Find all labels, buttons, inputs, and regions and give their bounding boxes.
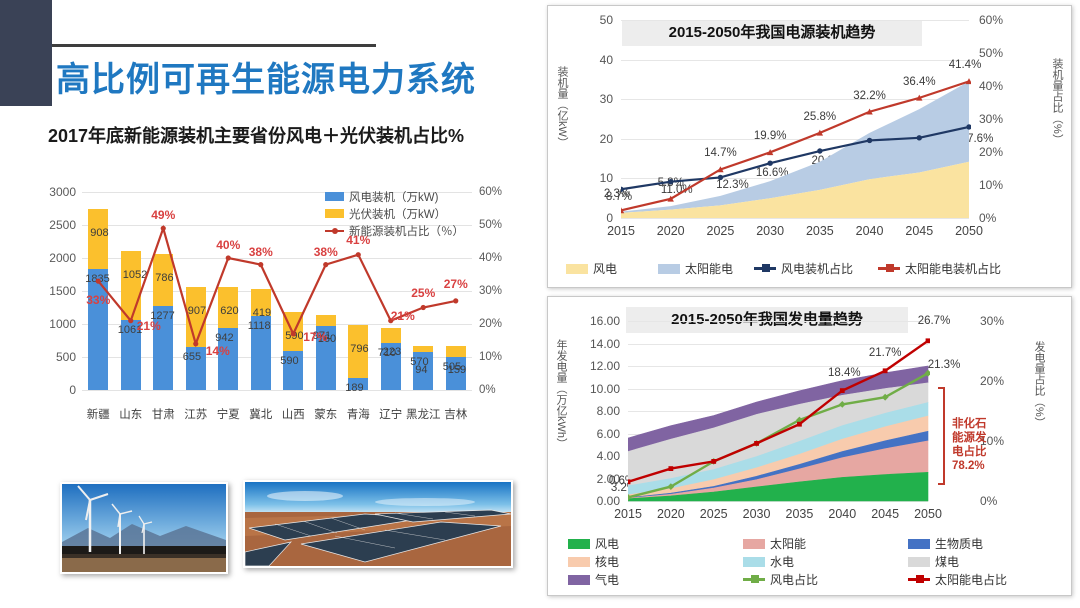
bar-column [186, 287, 206, 390]
legend-item-0: 风电 [568, 535, 619, 552]
legend-marker-4 [743, 557, 765, 567]
x-tick-2040: 2040 [856, 224, 884, 238]
y-tick-40: 40 [600, 53, 613, 67]
x-tick-2040: 2040 [828, 507, 856, 521]
ratio-label-2: 49% [151, 208, 175, 222]
page-title: 高比例可再生能源电力系统 [56, 52, 476, 101]
legend-marker-0 [566, 264, 588, 274]
wind-farm-photo [60, 482, 228, 574]
x-tick-蒙东: 蒙东 [314, 406, 337, 422]
solar-bar-segment [381, 328, 401, 343]
legend-marker-6 [568, 575, 590, 585]
ratio-label-0: 33% [86, 293, 110, 307]
x-tick-江苏: 江苏 [184, 406, 207, 422]
x-tick-2020: 2020 [657, 224, 685, 238]
bar-column [348, 325, 368, 390]
legend-item-ratio: 新能源装机占比（％） [325, 222, 464, 239]
solar-value-label: 907 [188, 305, 206, 317]
y-tick-4.00: 4.00 [597, 449, 620, 463]
title-accent-block [0, 0, 52, 106]
ratio-label-6: 17% [303, 330, 327, 344]
solar-value-label: 620 [220, 305, 238, 317]
ratio-label-4: 40% [216, 238, 240, 252]
x-tick-辽宁: 辽宁 [379, 406, 402, 422]
x-tick-宁夏: 宁夏 [217, 406, 240, 422]
x-tick-山西: 山西 [282, 406, 305, 422]
y2-tick-30%: 30% [479, 285, 502, 297]
y-tick-10: 10 [600, 171, 613, 185]
legend-item-6: 气电 [568, 571, 619, 588]
legend-item-2: 风电装机占比 [754, 260, 853, 277]
legend-item-0: 风电 [566, 260, 617, 277]
x-tick-2045: 2045 [871, 507, 899, 521]
wind-value-label: 1835 [85, 273, 109, 285]
legend-label-2: 生物质电 [935, 535, 983, 552]
y-tick-6.00: 6.00 [597, 427, 620, 441]
x-tick-2050: 2050 [955, 224, 983, 238]
legend-label-0: 风电 [595, 535, 619, 552]
y-tick-2000: 2000 [49, 251, 76, 265]
y2-tick-20%: 20% [979, 145, 1003, 159]
solar-value-label: 786 [155, 272, 173, 284]
x-tick-2015: 2015 [607, 224, 635, 238]
legend-marker-5 [908, 557, 930, 567]
ratio-label-10: 25% [411, 286, 435, 300]
y2-tick-50%: 50% [479, 219, 502, 231]
annotation-line-3: 78.2% [952, 459, 987, 473]
province-bar-chart: 0500100015002000250030000%10%20%30%40%50… [30, 180, 530, 435]
annotation-line-2: 电占比 [952, 445, 987, 459]
y2-tick-40%: 40% [979, 79, 1003, 93]
solar-bar-segment [446, 346, 466, 356]
non-fossil-annotation: 非化石能源发电占比78.2% [952, 417, 987, 473]
capacity-y2-axis-title: 装机量占比（%） [1049, 58, 1065, 145]
solar-value-label: 1052 [123, 269, 147, 281]
y-tick-10.00: 10.00 [590, 382, 620, 396]
x-tick-2035: 2035 [786, 507, 814, 521]
ratio-label-11: 27% [444, 277, 468, 291]
y-tick-14.00: 14.00 [590, 337, 620, 351]
ratio-label-3: 14% [206, 344, 230, 358]
bar-column [283, 312, 303, 390]
wind-bar-segment [88, 269, 108, 390]
label-风电占比-7: 21.3% [928, 359, 961, 371]
x-tick-冀北: 冀北 [249, 406, 272, 422]
x-tick-2045: 2045 [905, 224, 933, 238]
legend-label-ratio: 新能源装机占比（％） [349, 223, 464, 239]
legend-item-solar: 光伏装机（万kW） [325, 205, 464, 222]
legend-label-3: 太阳能电装机占比 [905, 260, 1001, 277]
y-tick-0: 0 [606, 211, 613, 225]
solar-farm-photo [243, 480, 513, 568]
y2-tick-20%: 20% [479, 318, 502, 330]
annotation-line-1: 能源发 [952, 431, 987, 445]
legend-marker-1 [658, 264, 680, 274]
y-tick-500: 500 [56, 350, 76, 364]
y2-tick-30%: 30% [980, 314, 1004, 328]
y2-tick-0%: 0% [979, 211, 996, 225]
legend-item-3: 核电 [568, 553, 619, 570]
bar-chart-legend: 风电装机（万kW) 光伏装机（万kW） 新能源装机占比（％） [325, 188, 464, 239]
bar-column [381, 328, 401, 390]
x-tick-2025: 2025 [700, 507, 728, 521]
generation-y2-axis-title: 发电量占比（%） [1031, 341, 1047, 428]
legend-marker-3 [568, 557, 590, 567]
legend-marker-2 [908, 539, 930, 549]
y2-tick-0%: 0% [980, 494, 997, 508]
legend-marker-3 [878, 267, 900, 270]
wind-farm-illustration [62, 484, 226, 572]
bar-column [251, 289, 271, 390]
solar-swatch-icon [325, 209, 344, 218]
solar-value-label: 908 [90, 227, 108, 239]
page-subtitle: 2017年底新能源装机主要省份风电＋光伏装机占比% [48, 122, 464, 148]
legend-item-8: 太阳能电占比 [908, 571, 1007, 588]
legend-item-1: 太阳能 [743, 535, 806, 552]
legend-label-wind: 风电装机（万kW) [349, 189, 438, 205]
legend-item-4: 水电 [743, 553, 794, 570]
capacity-plot-area: 010203040500%10%20%30%40%50%60%201520202… [621, 20, 969, 218]
annotation-bracket-icon [938, 387, 945, 485]
x-tick-2025: 2025 [707, 224, 735, 238]
legend-marker-8 [908, 578, 930, 581]
generation-y-axis-title: 年发电量（万亿kWh） [553, 339, 569, 449]
legend-item-1: 太阳能电 [658, 260, 733, 277]
legend-label-8: 太阳能电占比 [935, 571, 1007, 588]
x-tick-青海: 青海 [347, 406, 370, 422]
x-tick-吉林: 吉林 [444, 406, 467, 422]
x-tick-甘肃: 甘肃 [152, 406, 175, 422]
y-tick-12.00: 12.00 [590, 359, 620, 373]
y2-tick-60%: 60% [479, 186, 502, 198]
y2-tick-50%: 50% [979, 46, 1003, 60]
solar-bar-segment [121, 251, 141, 320]
ratio-label-9: 21% [391, 309, 415, 323]
generation-trend-panel: 2015-2050年我国发电量趋势 年发电量（万亿kWh） 发电量占比（%） 0… [547, 296, 1072, 596]
legend-item-3: 太阳能电装机占比 [878, 260, 1001, 277]
wind-value-label: 1118 [248, 320, 271, 332]
x-tick-2020: 2020 [657, 507, 685, 521]
solar-bar-segment [316, 315, 336, 326]
solar-value-label: 796 [350, 343, 368, 355]
x-tick-山东: 山东 [119, 406, 142, 422]
ratio-label-5: 38% [249, 245, 273, 259]
legend-label-1: 太阳能电 [685, 260, 733, 277]
y2-tick-10%: 10% [979, 178, 1003, 192]
annotation-line-0: 非化石 [952, 417, 987, 431]
bar-column [316, 315, 336, 390]
y-tick-2500: 2500 [49, 218, 76, 232]
y-tick-1500: 1500 [49, 284, 76, 298]
capacity-y-axis-title: 装机量（亿kW） [554, 66, 570, 148]
legend-item-2: 生物质电 [908, 535, 983, 552]
y2-tick-60%: 60% [979, 13, 1003, 27]
capacity-trend-panel: 2015-2050年我国电源装机趋势 装机量（亿kW） 装机量占比（%） 010… [547, 5, 1072, 288]
capacity-areas-and-lines [621, 20, 971, 220]
legend-item-wind: 风电装机（万kW) [325, 188, 464, 205]
legend-marker-7 [743, 578, 765, 581]
solar-value-label: 223 [383, 346, 401, 358]
ratio-label-1: 21% [137, 319, 161, 333]
ratio-label-7: 38% [314, 245, 338, 259]
x-tick-2030: 2030 [743, 507, 771, 521]
generation-plot-area: 0.002.004.006.008.0010.0012.0014.0016.00… [628, 321, 928, 501]
solar-value-label: 159 [448, 364, 466, 376]
solar-farm-illustration [245, 482, 511, 566]
y2-tick-10%: 10% [479, 351, 502, 363]
wind-value-label: 189 [345, 382, 363, 394]
legend-label-7: 风电占比 [770, 571, 818, 588]
solar-value-label: 419 [253, 307, 271, 319]
legend-label-1: 太阳能 [770, 535, 806, 552]
solar-value-label: 590 [285, 330, 303, 342]
wind-value-label: 590 [280, 355, 298, 367]
y-tick-0: 0 [69, 383, 76, 397]
y-tick-8.00: 8.00 [597, 404, 620, 418]
wind-swatch-icon [325, 192, 344, 201]
x-tick-黑龙江: 黑龙江 [406, 406, 441, 422]
legend-item-7: 风电占比 [743, 571, 818, 588]
legend-label-4: 水电 [770, 553, 794, 570]
legend-marker-2 [754, 267, 776, 270]
x-tick-2050: 2050 [914, 507, 942, 521]
y2-tick-30%: 30% [979, 112, 1003, 126]
y2-tick-0%: 0% [479, 384, 496, 396]
legend-label-2: 风电装机占比 [781, 260, 853, 277]
legend-marker-1 [743, 539, 765, 549]
x-tick-新疆: 新疆 [87, 406, 110, 422]
legend-item-5: 煤电 [908, 553, 959, 570]
x-tick-2015: 2015 [614, 507, 642, 521]
y-tick-20: 20 [600, 132, 613, 146]
legend-label-6: 气电 [595, 571, 619, 588]
legend-label-0: 风电 [593, 260, 617, 277]
legend-marker-0 [568, 539, 590, 549]
y-tick-30: 30 [600, 92, 613, 106]
x-tick-2030: 2030 [756, 224, 784, 238]
legend-label-3: 核电 [595, 553, 619, 570]
ratio-line-icon [325, 230, 344, 232]
x-tick-2035: 2035 [806, 224, 834, 238]
y-tick-1000: 1000 [49, 317, 76, 331]
legend-label-5: 煤电 [935, 553, 959, 570]
grid-line [82, 390, 472, 391]
solar-value-label: 94 [415, 364, 427, 376]
wind-value-label: 655 [183, 351, 201, 363]
generation-areas-and-lines [628, 321, 930, 503]
y-tick-0.00: 0.00 [597, 494, 620, 508]
y2-tick-40%: 40% [479, 252, 502, 264]
wind-value-label: 942 [215, 332, 233, 344]
y-tick-50: 50 [600, 13, 613, 27]
legend-label-solar: 光伏装机（万kW） [349, 206, 446, 222]
y-tick-16.00: 16.00 [590, 314, 620, 328]
title-divider-rule [52, 44, 376, 47]
y-tick-3000: 3000 [49, 185, 76, 199]
y2-tick-20%: 20% [980, 374, 1004, 388]
